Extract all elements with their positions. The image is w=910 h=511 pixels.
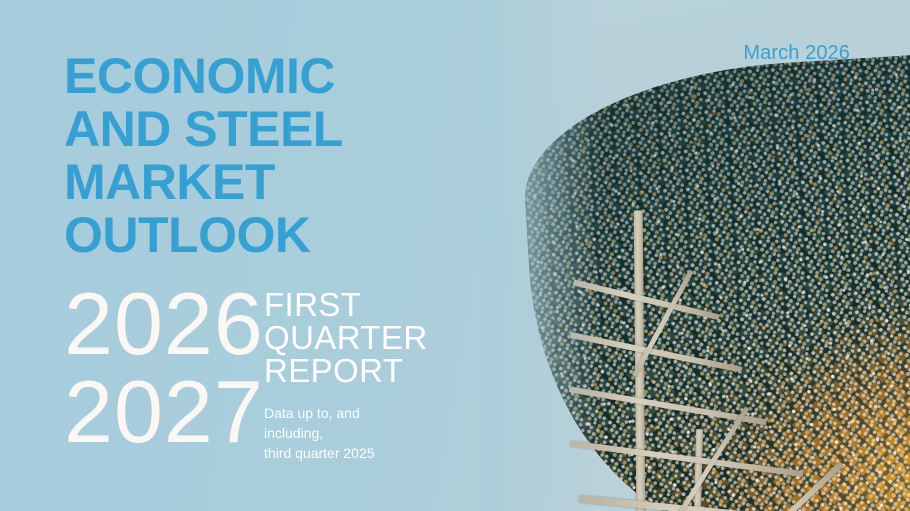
report-title-line: QUARTER [264,321,428,354]
headline-line: MARKET [64,156,464,209]
report-date: March 2026 [743,42,850,65]
cover-photo [480,0,910,511]
year-range: 2026 2027 [64,278,264,456]
note-line: Data up to, and [264,403,428,423]
subtitle-block: 2026 2027 FIRST QUARTER REPORT Data up t… [64,278,484,463]
headline-line: AND STEEL [64,103,464,156]
report-title-line: FIRST [264,288,428,321]
headline-line: OUTLOOK [64,209,464,262]
page-title: ECONOMIC AND STEEL MARKET OUTLOOK [64,50,464,262]
report-title-group: FIRST QUARTER REPORT Data up to, and inc… [264,278,428,463]
data-coverage-note: Data up to, and including, third quarter… [264,403,428,463]
year-value: 2026 [64,280,264,368]
year-value: 2027 [64,368,264,456]
steel-lattice-structure [518,51,910,511]
cover-page: March 2026 ECONOMIC AND STEEL MARKET OUT… [0,0,910,511]
headline-line: ECONOMIC [64,50,464,103]
note-line: third quarter 2025 [264,443,428,463]
note-line: including, [264,423,428,443]
report-title-line: REPORT [264,354,428,387]
